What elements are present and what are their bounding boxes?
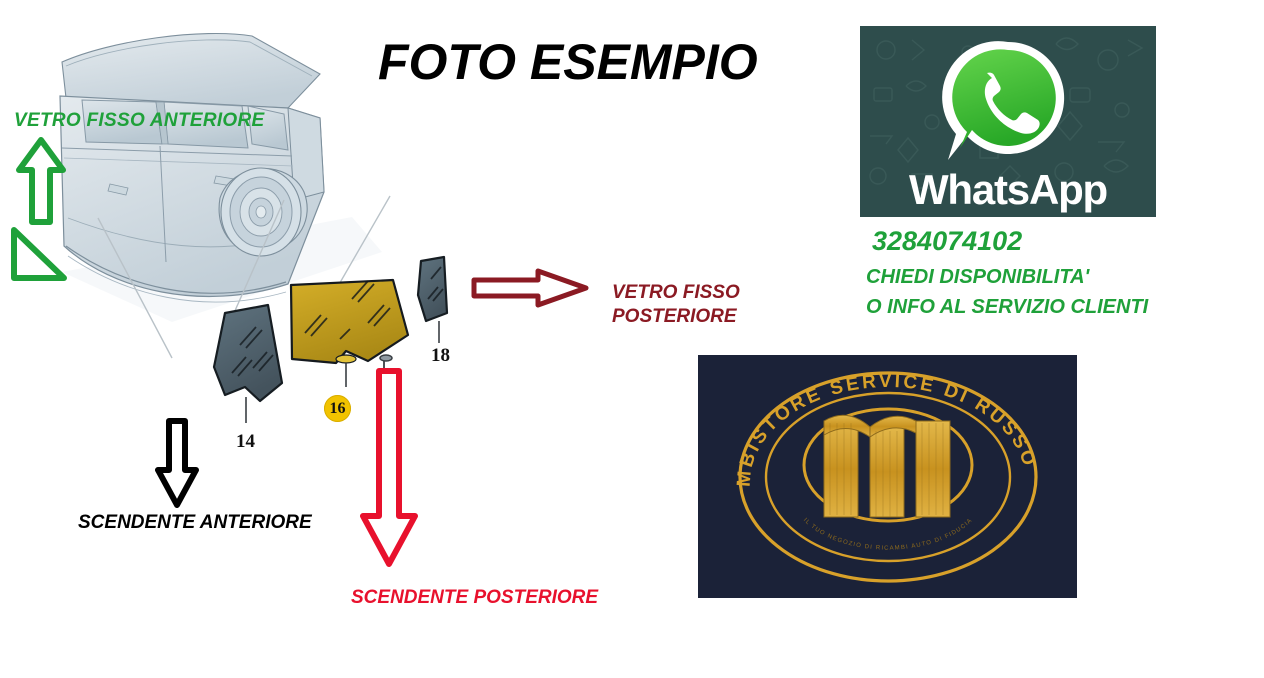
part-number-18: 18: [431, 345, 450, 367]
part-number-16-badge: 16: [324, 395, 351, 422]
label-vetro-fisso-posteriore-line1: VETRO FISSO: [612, 281, 740, 305]
part-number-14: 14: [236, 431, 255, 453]
label-vetro-fisso-anteriore: VETRO FISSO ANTERIORE: [14, 110, 265, 132]
triangle-green-icon: [8, 226, 68, 284]
label-scendente-posteriore: SCENDENTE POSTERIORE: [351, 587, 598, 609]
whatsapp-phone-bubble-icon: [938, 36, 1078, 168]
contact-line-1: CHIEDI DISPONIBILITA': [866, 266, 1089, 289]
company-logo-badge: MRICAMBISTORE SERVICE DI RUSSO MARCO IL …: [698, 355, 1077, 598]
phone-number[interactable]: 3284074102: [872, 226, 1022, 257]
poster-canvas: 14 16 17 18 FOTO ESEMPIO VETRO FISSO ANT…: [0, 0, 1264, 678]
page-title: FOTO ESEMPIO: [378, 33, 758, 91]
label-scendente-anteriore: SCENDENTE ANTERIORE: [78, 512, 312, 534]
whatsapp-logo-banner: WhatsApp: [860, 26, 1156, 217]
arrow-down-red-icon: [360, 368, 418, 568]
label-vetro-fisso-posteriore: VETRO FISSO POSTERIORE: [612, 281, 740, 329]
label-vetro-fisso-posteriore-line2: POSTERIORE: [612, 305, 740, 329]
arrow-down-black-icon: [155, 418, 199, 508]
arrow-right-maroon-icon: [470, 268, 590, 308]
arrow-up-green-icon: [16, 136, 66, 226]
contact-line-2: O INFO AL SERVIZIO CLIENTI: [866, 296, 1148, 319]
whatsapp-wordmark: WhatsApp: [860, 166, 1156, 214]
